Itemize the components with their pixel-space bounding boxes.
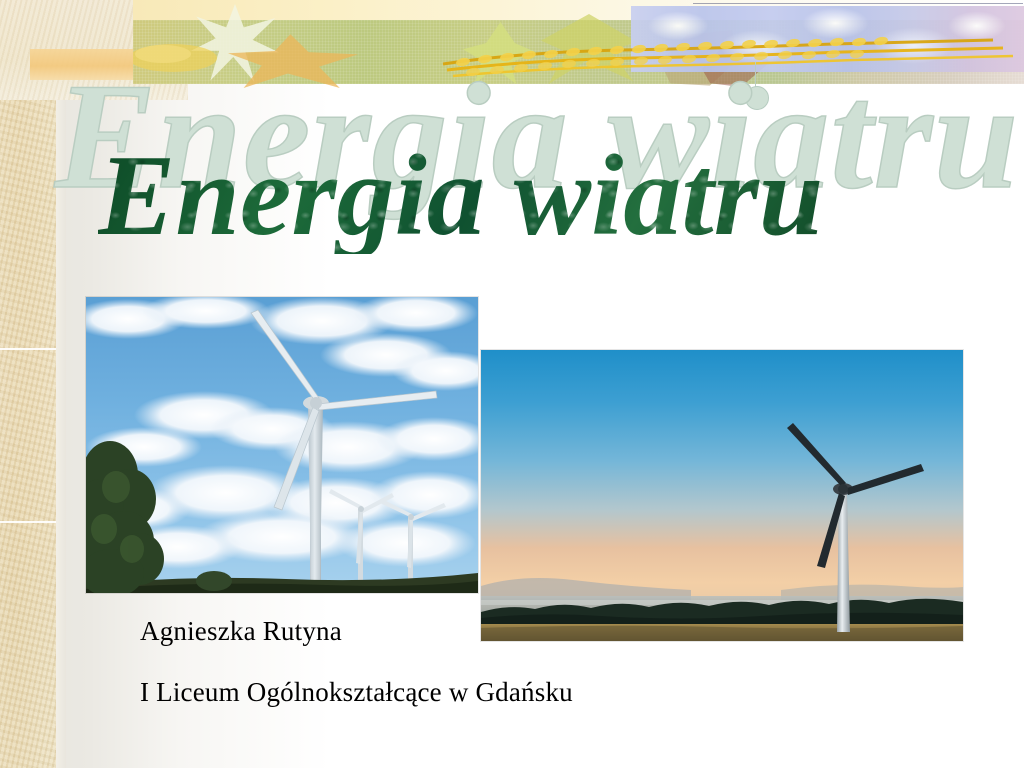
presentation-slide: Energia wiatru Energia wiatru [0, 0, 1024, 768]
title-block: Energia wiatru Energia wiatru [0, 0, 1024, 290]
slide-title: Energia wiatru [98, 138, 823, 254]
school-caption: I Liceum Ogólnokształcące w Gdańsku [140, 677, 573, 708]
wind-turbine-sunset-photo [481, 350, 963, 641]
sidebar-tick-lower [0, 521, 56, 523]
sidebar-tick-upper [0, 348, 56, 350]
wind-turbines-cloudy-sky-photo [86, 297, 478, 593]
author-caption: Agnieszka Rutyna [140, 616, 342, 647]
